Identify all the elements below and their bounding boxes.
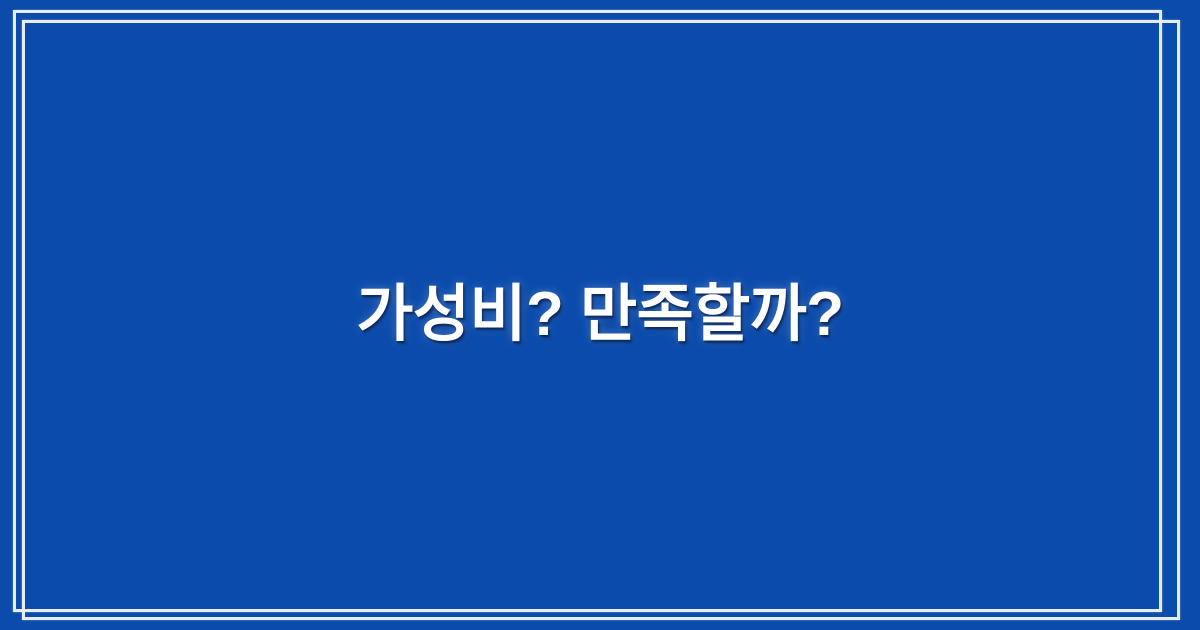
banner-title: 가성비? 만족할까?: [356, 276, 843, 354]
banner-canvas: 가성비? 만족할까?: [0, 0, 1200, 630]
title-container: 가성비? 만족할까?: [0, 0, 1200, 630]
